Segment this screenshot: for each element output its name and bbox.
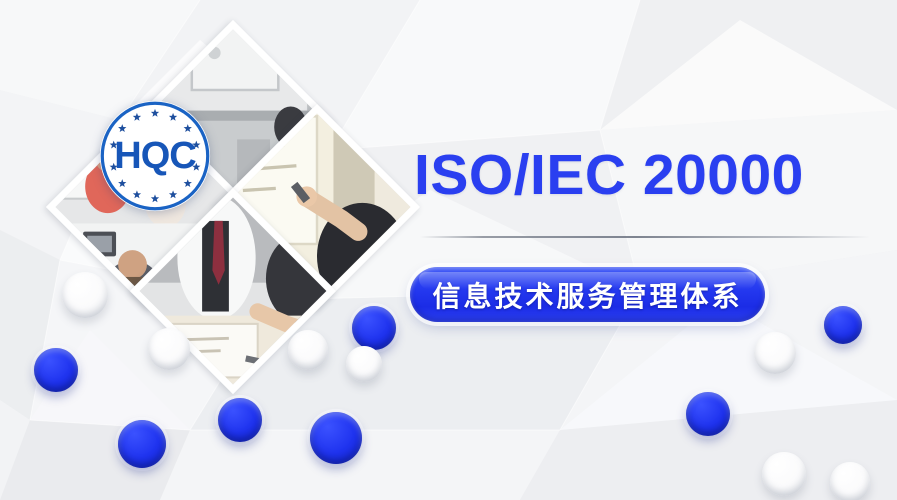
title-divider xyxy=(420,236,870,238)
decorative-disc-blue xyxy=(34,348,78,392)
decorative-disc-blue xyxy=(310,412,362,464)
iso-certification-banner: HQC ISO/IEC 20000 信息技术服务管理体系 xyxy=(0,0,897,500)
decorative-disc-blue xyxy=(218,398,262,442)
hqc-seal-svg: HQC xyxy=(98,99,212,213)
page-title: ISO/IEC 20000 xyxy=(414,144,804,208)
subtitle-label: 信息技术服务管理体系 xyxy=(432,275,742,315)
decorative-disc-white xyxy=(830,462,870,500)
decorative-disc-blue xyxy=(118,420,166,468)
subtitle-badge: 信息技术服务管理体系 xyxy=(410,267,765,322)
decorative-disc-white xyxy=(288,330,328,370)
decorative-disc-white xyxy=(148,328,190,370)
hqc-logo-seal: HQC xyxy=(98,99,212,213)
decorative-disc-white xyxy=(346,346,382,382)
decorative-disc-blue xyxy=(352,306,396,350)
hqc-logo-text: HQC xyxy=(114,135,196,177)
decorative-disc-blue xyxy=(824,306,862,344)
decorative-disc-white xyxy=(62,272,108,318)
decorative-disc-white xyxy=(762,452,806,496)
decorative-disc-white xyxy=(754,332,796,374)
decorative-disc-blue xyxy=(686,392,730,436)
